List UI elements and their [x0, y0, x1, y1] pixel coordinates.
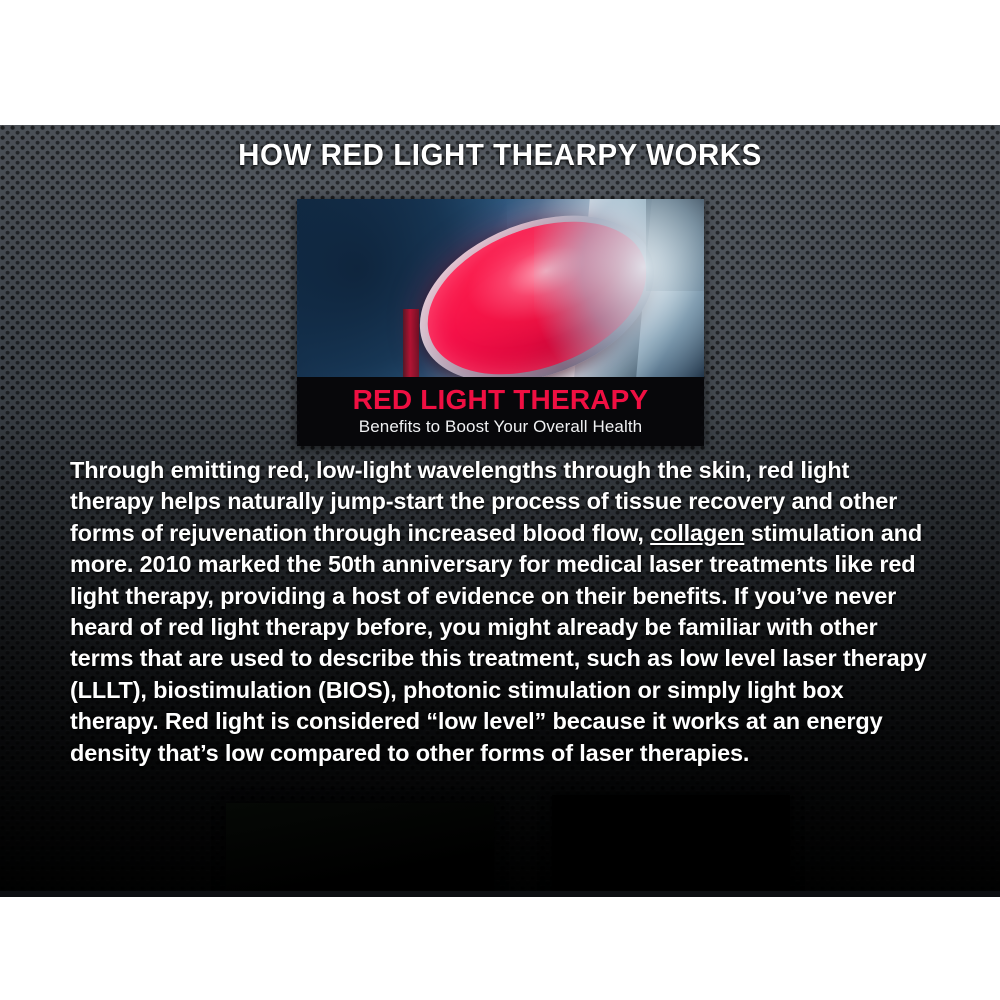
- red-light-lamp-photo: [297, 199, 704, 377]
- slide-title: HOW RED LIGHT THEARPY WORKS: [25, 137, 975, 173]
- body-paragraph: Through emitting red, low-light waveleng…: [70, 455, 932, 769]
- presentation-slide: HOW RED LIGHT THEARPY WORKS RED LIGHT TH…: [0, 125, 1000, 897]
- lamp-red-glow-shape: [406, 199, 668, 377]
- image-placeholder-left[interactable]: [226, 803, 494, 897]
- page-canvas: HOW RED LIGHT THEARPY WORKS RED LIGHT TH…: [0, 0, 1000, 1000]
- hero-caption-subtitle: Benefits to Boost Your Overall Health: [359, 417, 642, 437]
- hero-image: RED LIGHT THERAPY Benefits to Boost Your…: [297, 199, 704, 446]
- collagen-link[interactable]: collagen: [650, 520, 744, 546]
- hero-caption-band: RED LIGHT THERAPY Benefits to Boost Your…: [297, 377, 704, 446]
- body-text-block: Through emitting red, low-light waveleng…: [70, 455, 932, 769]
- image-placeholder-right[interactable]: [552, 795, 790, 897]
- lamp-neck-shape: [574, 199, 652, 377]
- slide-bottom-edge: [0, 891, 1000, 897]
- photo-shadow-patch: [646, 199, 704, 291]
- hero-caption-title: RED LIGHT THERAPY: [353, 386, 649, 415]
- lamp-post-shape: [403, 309, 419, 377]
- body-text-segment-2: stimulation and more. 2010 marked the 50…: [70, 520, 927, 766]
